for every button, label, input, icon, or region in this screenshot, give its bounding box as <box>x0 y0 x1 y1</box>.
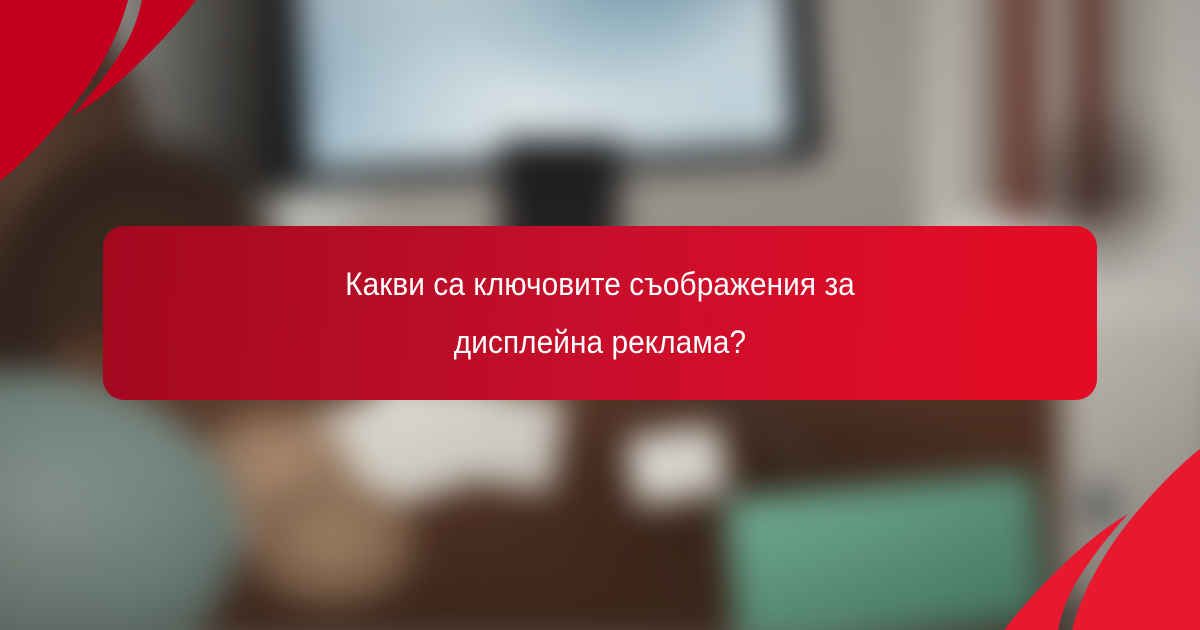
headline-banner: Какви са ключовите съображения за диспле… <box>103 226 1097 400</box>
headline-text: Какви са ключовите съображения за диспле… <box>308 255 892 371</box>
social-card: Какви са ключовите съображения за диспле… <box>0 0 1200 630</box>
